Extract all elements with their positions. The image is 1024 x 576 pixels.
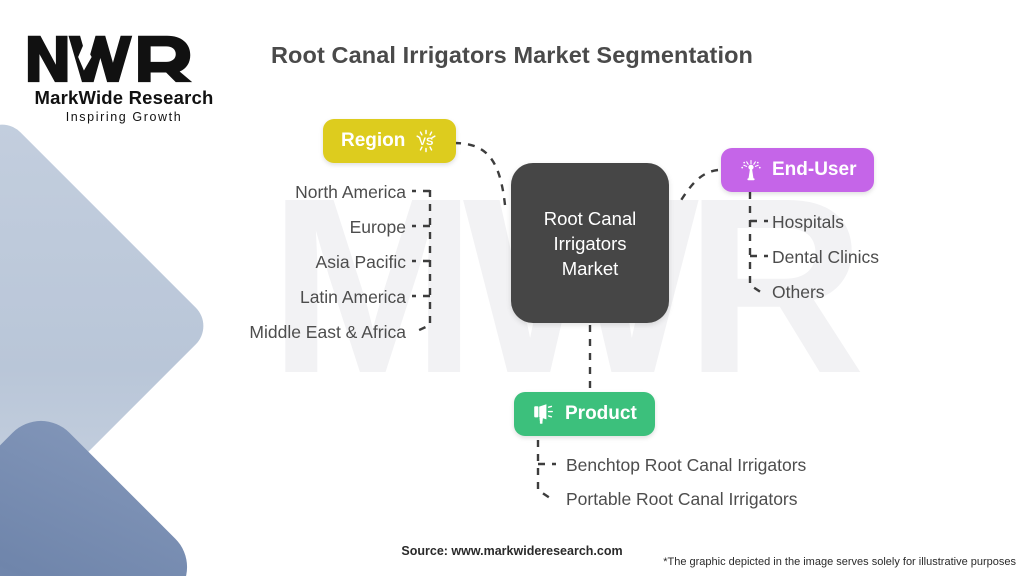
- center-line-2: Irrigators: [544, 231, 637, 256]
- center-line-1: Root Canal: [544, 206, 637, 231]
- wire-region-to-center: [454, 143, 505, 205]
- center-node: Root Canal Irrigators Market: [511, 163, 669, 323]
- spray-device-icon: [739, 158, 763, 182]
- wire-enduser-to-center: [678, 170, 718, 205]
- branch-label-region: Region: [341, 130, 405, 152]
- leaf-end-user-1: Dental Clinics: [772, 247, 879, 268]
- irrigator-handpiece-icon: [532, 402, 556, 426]
- leaf-region-1: Europe: [106, 217, 406, 238]
- leaf-end-user-0: Hospitals: [772, 212, 844, 233]
- branch-label-product: Product: [565, 403, 637, 425]
- svg-text:VS: VS: [419, 136, 434, 148]
- branch-badge-region[interactable]: Region VS: [323, 119, 456, 163]
- wire-product-spine: [538, 440, 550, 498]
- leaf-product-0: Benchtop Root Canal Irrigators: [566, 455, 806, 476]
- leaf-region-2: Asia Pacific: [106, 252, 406, 273]
- branch-label-end-user: End-User: [772, 159, 856, 181]
- infographic-canvas: MWR MarkWide Research Inspiring Growth R…: [0, 0, 1024, 576]
- branch-badge-product[interactable]: Product: [514, 392, 655, 436]
- leaf-region-4: Middle East & Africa: [106, 322, 406, 343]
- leaf-region-3: Latin America: [106, 287, 406, 308]
- disclaimer-note: *The graphic depicted in the image serve…: [663, 556, 1016, 568]
- leaf-end-user-2: Others: [772, 282, 825, 303]
- center-node-label: Root Canal Irrigators Market: [544, 206, 637, 281]
- sparkle-burst-icon: VS: [414, 129, 438, 153]
- leaf-region-0: North America: [106, 182, 406, 203]
- center-line-3: Market: [544, 256, 637, 281]
- leaf-product-1: Portable Root Canal Irrigators: [566, 489, 798, 510]
- branch-badge-end-user[interactable]: End-User: [721, 148, 874, 192]
- wire-enduser-spine: [750, 192, 762, 293]
